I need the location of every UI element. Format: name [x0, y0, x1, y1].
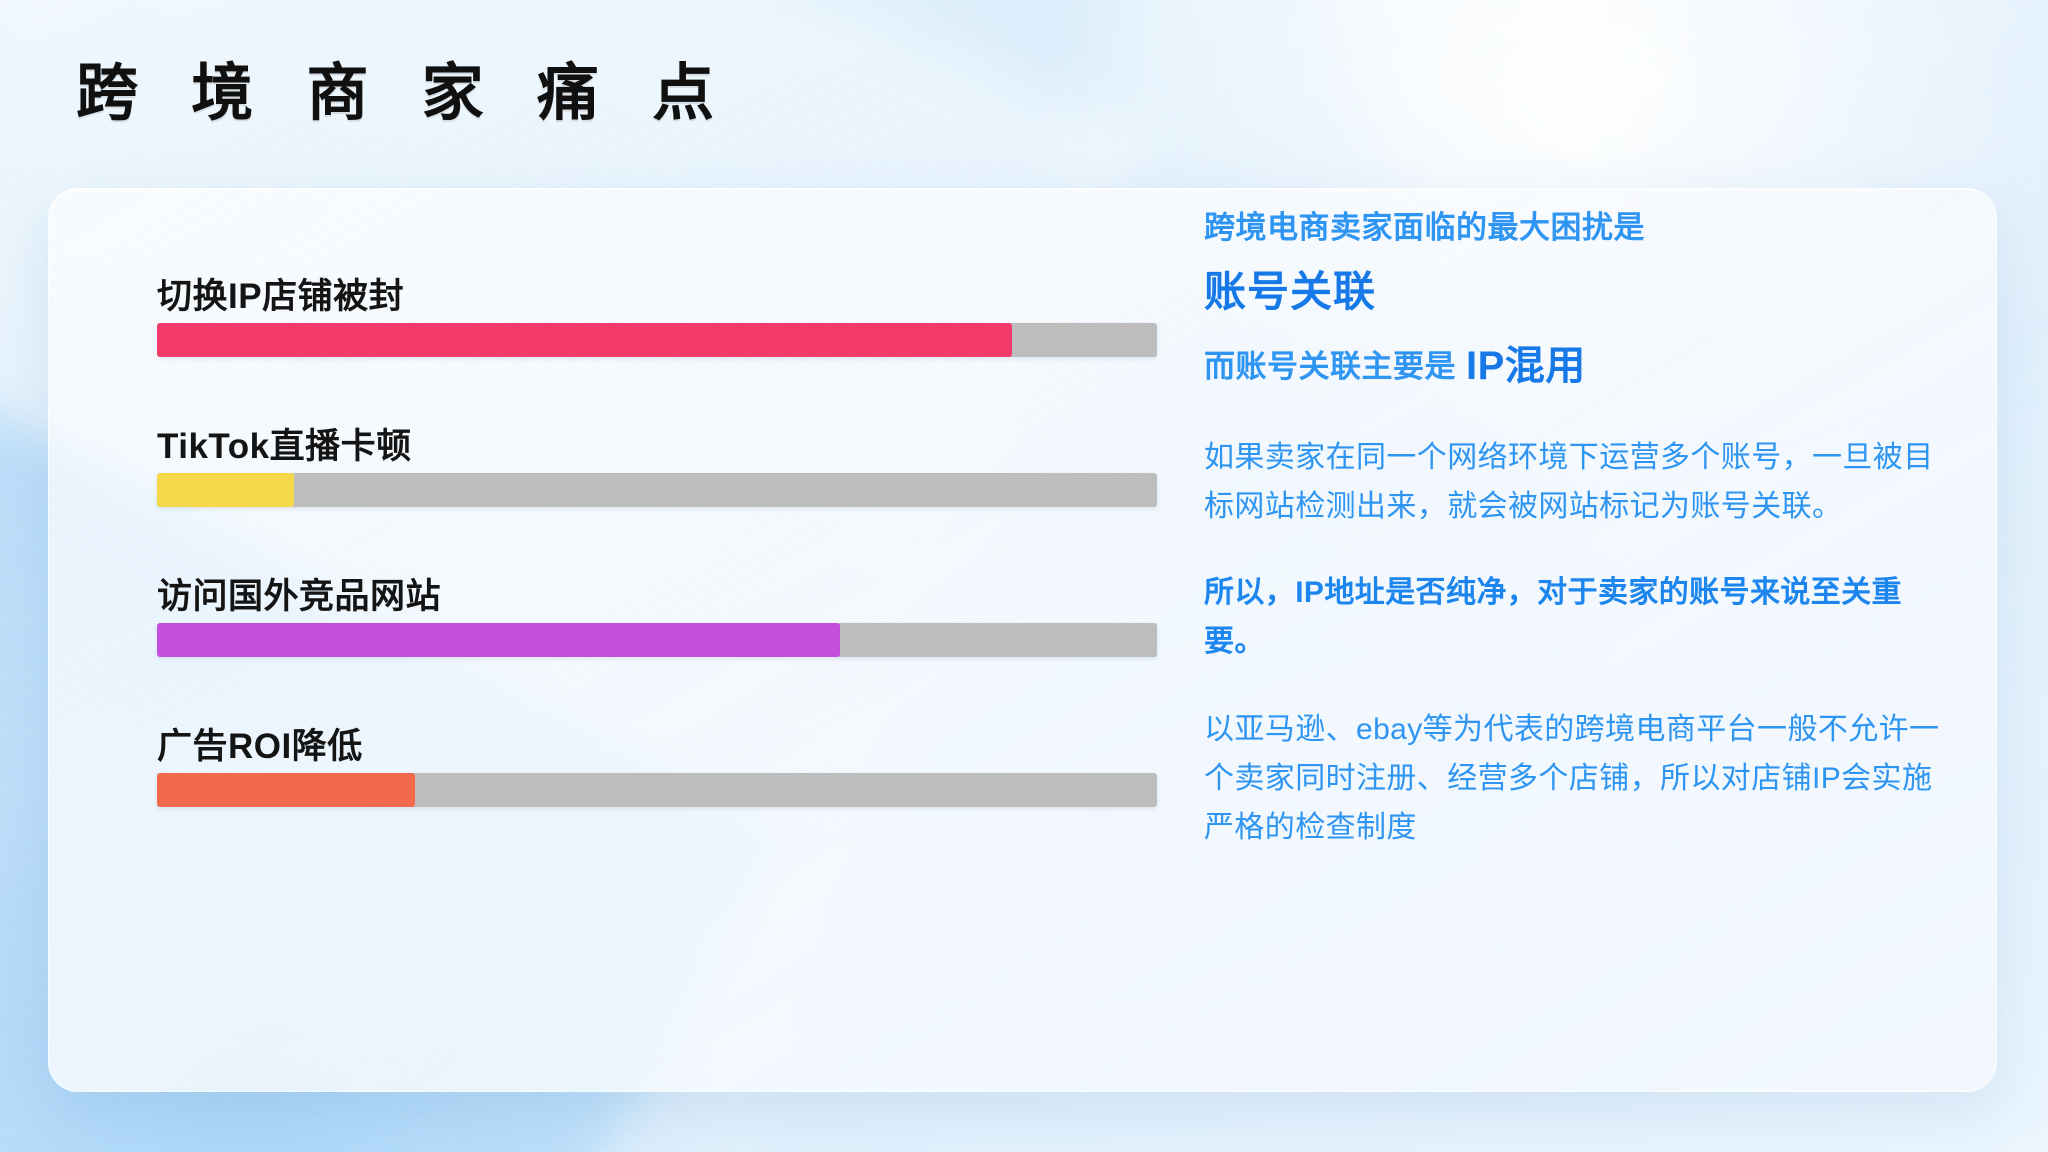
paragraph-3: 以亚马逊、ebay等为代表的跨境电商平台一般不允许一个卖家同时注册、经营多个店铺… — [1204, 706, 1944, 852]
bar-track — [157, 623, 1157, 657]
bar-row: TikTok直播卡顿 10% — [109, 395, 1169, 507]
explanation-panel: 跨境电商卖家面临的最大困扰是 账号关联 而账号关联主要是IP混用 如果卖家在同一… — [1204, 199, 1944, 852]
lead-mix-line: 而账号关联主要是IP混用 — [1204, 338, 1944, 394]
lead-mix-highlight: IP混用 — [1466, 344, 1586, 388]
bar-label: 切换IP店铺被封 — [157, 268, 404, 319]
paragraph-1: 如果卖家在同一个网络环境下运营多个账号，一旦被目标网站检测出来，就会被网站标记为… — [1204, 434, 1944, 531]
bar-label: 广告ROI降低 — [157, 718, 363, 769]
bar-row: 广告ROI降低 25% — [109, 695, 1169, 807]
bar-track — [157, 773, 1157, 807]
infographic-stage: 跨 境 商 家 痛 点 切换IP店铺被封 85% TikTok直播卡顿 10% — [0, 0, 2048, 1152]
bar-fill — [157, 773, 415, 807]
lead-mix-prefix: 而账号关联主要是 — [1204, 349, 1456, 384]
bar-row: 访问国外竞品网站 60% — [109, 545, 1169, 657]
bar-label: 访问国外竞品网站 — [157, 568, 441, 619]
lead-line: 跨境电商卖家面临的最大困扰是 — [1204, 205, 1944, 252]
pain-point-bar-chart: 切换IP店铺被封 85% TikTok直播卡顿 10% — [109, 245, 1169, 807]
page-title: 跨 境 商 家 痛 点 — [76, 58, 732, 129]
bar-header: TikTok直播卡顿 10% — [109, 395, 1169, 473]
bar-fill — [157, 473, 294, 507]
bar-track — [157, 473, 1157, 507]
bar-track — [157, 323, 1157, 357]
bar-header: 广告ROI降低 25% — [109, 695, 1169, 773]
lead-keyword: 账号关联 — [1204, 266, 1944, 319]
bar-fill — [157, 623, 840, 657]
bar-fill — [157, 323, 1012, 357]
content-card: 切换IP店铺被封 85% TikTok直播卡顿 10% — [48, 188, 1997, 1092]
bar-row: 切换IP店铺被封 85% — [109, 245, 1169, 357]
bar-header: 访问国外竞品网站 60% — [109, 545, 1169, 623]
paragraph-2: 所以，IP地址是否纯净，对于卖家的账号来说至关重要。 — [1204, 569, 1944, 666]
bar-header: 切换IP店铺被封 85% — [109, 245, 1169, 323]
bar-label: TikTok直播卡顿 — [157, 418, 412, 469]
